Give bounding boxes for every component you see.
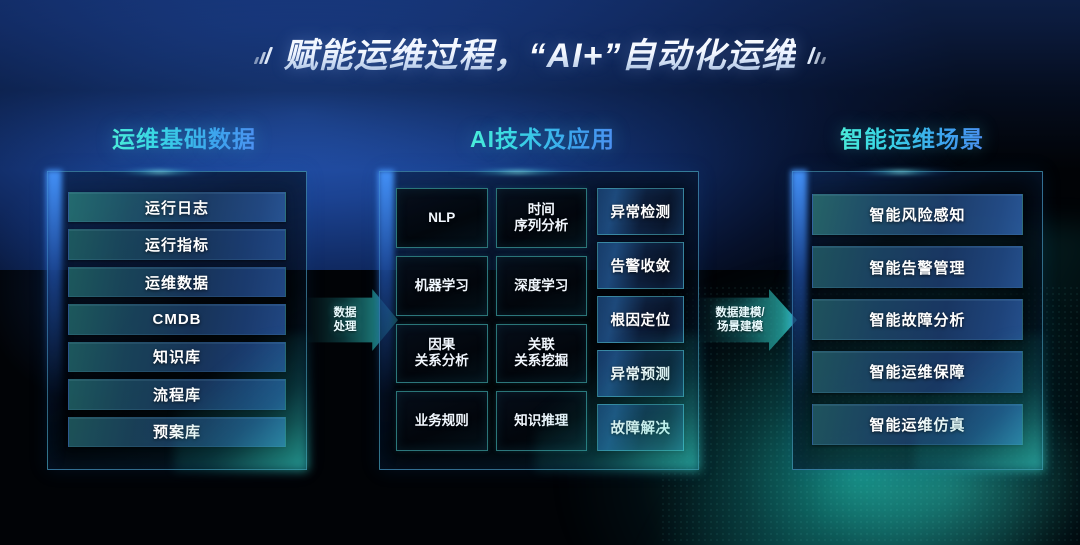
list-item[interactable]: 运行指标 bbox=[68, 229, 286, 259]
list-item[interactable]: 流程库 bbox=[68, 379, 286, 409]
column-header-left: 运维基础数据 bbox=[112, 120, 256, 154]
connector-modeling: 数据建模/ 场景建模 bbox=[697, 289, 797, 351]
list-item[interactable]: 预案库 bbox=[68, 417, 286, 447]
list-item[interactable]: 运行日志 bbox=[68, 192, 286, 222]
application-item[interactable]: 告警收敛 bbox=[597, 242, 684, 289]
panel-ai-technology: NLP 时间序列分析 机器学习 深度学习 因果关系分析 关联关系挖掘 业务规则 … bbox=[379, 171, 699, 470]
connector-label-line1: 数据 bbox=[334, 306, 357, 320]
ai-panel-content: NLP 时间序列分析 机器学习 深度学习 因果关系分析 关联关系挖掘 业务规则 … bbox=[396, 188, 684, 451]
column-header-middle: AI技术及应用 bbox=[470, 120, 615, 154]
list-item[interactable]: 知识库 bbox=[68, 342, 286, 372]
title-dashes-left-icon bbox=[255, 40, 270, 64]
column-header-right: 智能运维场景 bbox=[840, 120, 984, 154]
tech-box[interactable]: 时间序列分析 bbox=[496, 188, 588, 248]
connector-label-line1: 数据建模/ bbox=[715, 306, 764, 320]
scenario-item[interactable]: 智能告警管理 bbox=[812, 246, 1023, 287]
scenario-item[interactable]: 智能运维保障 bbox=[812, 351, 1023, 392]
ai-technology-grid: NLP 时间序列分析 机器学习 深度学习 因果关系分析 关联关系挖掘 业务规则 … bbox=[396, 188, 587, 451]
tech-box[interactable]: 因果关系分析 bbox=[396, 324, 488, 384]
tech-box[interactable]: 知识推理 bbox=[496, 391, 588, 451]
connector-label-line2: 处理 bbox=[334, 320, 357, 334]
panel-base-data: 运行日志 运行指标 运维数据 CMDB 知识库 流程库 预案库 bbox=[47, 171, 307, 470]
slide-title: 赋能运维过程，“AI+”自动化运维 bbox=[284, 28, 797, 77]
title-dashes-right-icon bbox=[810, 40, 825, 64]
panel-aiops-scenarios: 智能风险感知 智能告警管理 智能故障分析 智能运维保障 智能运维仿真 bbox=[792, 171, 1043, 470]
application-item[interactable]: 故障解决 bbox=[597, 404, 684, 451]
tech-box[interactable]: 深度学习 bbox=[496, 256, 588, 316]
tech-box[interactable]: 机器学习 bbox=[396, 256, 488, 316]
list-item[interactable]: 运维数据 bbox=[68, 267, 286, 297]
connector-label: 数据建模/ 场景建模 bbox=[697, 289, 797, 351]
tech-box[interactable]: 关联关系挖掘 bbox=[496, 324, 588, 384]
scenario-list: 智能风险感知 智能告警管理 智能故障分析 智能运维保障 智能运维仿真 bbox=[812, 194, 1023, 445]
base-data-list: 运行日志 运行指标 运维数据 CMDB 知识库 流程库 预案库 bbox=[68, 192, 286, 447]
application-item[interactable]: 异常预测 bbox=[597, 350, 684, 397]
tech-box[interactable]: 业务规则 bbox=[396, 391, 488, 451]
slide-title-bar: 赋能运维过程，“AI+”自动化运维 bbox=[0, 24, 1080, 80]
ai-application-list: 异常检测 告警收敛 根因定位 异常预测 故障解决 bbox=[597, 188, 684, 451]
application-item[interactable]: 根因定位 bbox=[597, 296, 684, 343]
connector-label-line2: 场景建模 bbox=[717, 320, 763, 334]
scenario-item[interactable]: 智能故障分析 bbox=[812, 299, 1023, 340]
scenario-item[interactable]: 智能运维仿真 bbox=[812, 404, 1023, 445]
list-item[interactable]: CMDB bbox=[68, 304, 286, 334]
scenario-item[interactable]: 智能风险感知 bbox=[812, 194, 1023, 235]
tech-box[interactable]: NLP bbox=[396, 188, 488, 248]
application-item[interactable]: 异常检测 bbox=[597, 188, 684, 235]
slide-canvas: 赋能运维过程，“AI+”自动化运维 运维基础数据 AI技术及应用 智能运维场景 … bbox=[0, 0, 1080, 545]
